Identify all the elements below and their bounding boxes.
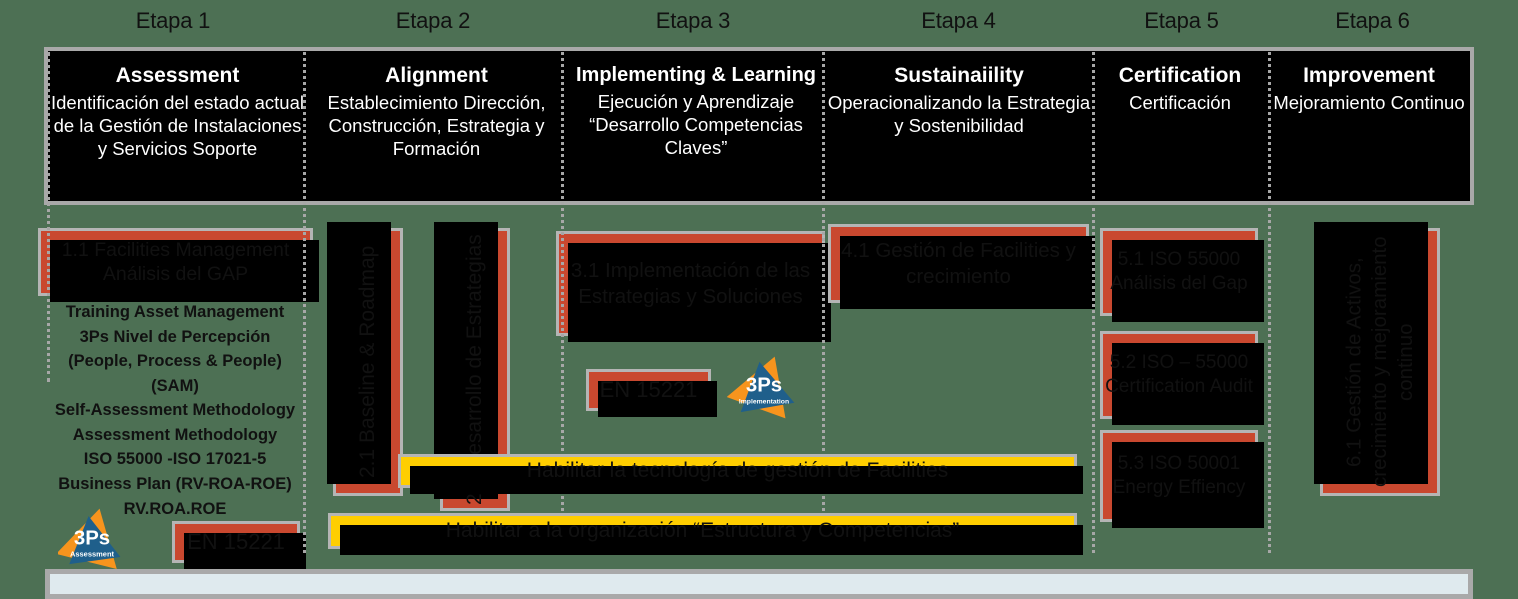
list-item: Training Asset Management: [46, 300, 304, 325]
badge-en-15221-column3[interactable]: EN 15221: [586, 369, 711, 411]
stage-header-subtitle: Ejecución y Aprendizaje “Desarrollo Comp…: [566, 91, 826, 160]
svg-text:Implementation: Implementation: [739, 399, 789, 406]
stage-header-title: Certification: [1092, 64, 1268, 87]
enabler-bar-technology[interactable]: Habilitar la tecnología de gestión de Fa…: [398, 454, 1077, 488]
stage-header-title: Sustainaiility: [826, 64, 1092, 87]
stage-header-subtitle: Mejoramiento Continuo: [1268, 92, 1470, 115]
list-item: (People, Process & People): [46, 349, 304, 374]
stage-header-subtitle: Operacionalizando la Estrategia y Sosten…: [826, 92, 1092, 138]
stage-header-2: Alignment Establecimiento Dirección, Con…: [307, 51, 566, 201]
card-2-1-baseline-roadmap[interactable]: 2.1 Baseline & Roadmap: [333, 228, 403, 496]
card-5-3-iso-50001[interactable]: 5.3 ISO 50001 Energy Effiency: [1100, 430, 1258, 522]
logo-3ps-assessment-graphic: 3Ps Assessment: [58, 505, 126, 573]
stage-caption-1: Etapa 1: [44, 8, 302, 34]
column-separator-left-edge: [47, 52, 50, 382]
stage-caption-3: Etapa 3: [564, 8, 822, 34]
stage-caption-5: Etapa 5: [1095, 8, 1268, 34]
column-separator-1-2: [303, 52, 306, 553]
stage-header-4: Sustainaiility Operacionalizando la Estr…: [826, 51, 1092, 201]
stage-header-6: Improvement Mejoramiento Continuo: [1268, 51, 1470, 201]
card-5-2-iso-55000-audit[interactable]: 5.2 ISO – 55000 Certification Audit: [1100, 331, 1258, 419]
stage-header-subtitle: Certificación: [1092, 92, 1268, 115]
enabler-bar-organization[interactable]: Habilitar a la organización “Estructura …: [328, 513, 1077, 549]
stage-header-title: Assessment: [48, 64, 307, 87]
stage-header-1: Assessment Identificación del estado act…: [48, 51, 307, 201]
stage-header-title: Alignment: [307, 64, 566, 87]
svg-text:3Ps: 3Ps: [746, 374, 782, 396]
card-6-1-gestion-activos[interactable]: 6.1 Gestión de Activos, crecimiento y me…: [1320, 228, 1440, 496]
stage-header-5: Certification Certificación: [1092, 51, 1268, 201]
column-separator-5-6: [1268, 52, 1271, 553]
stage-header-subtitle: Establecimiento Dirección, Construcción,…: [307, 92, 566, 161]
card-1-1-facilities-management[interactable]: 1.1 Facilities Management Análisis del G…: [38, 228, 313, 296]
list-item: (SAM): [46, 374, 304, 399]
badge-en-15221-column1[interactable]: EN 15221: [172, 521, 300, 563]
bottom-timeline-bar: [45, 569, 1473, 599]
column1-detail-list: Training Asset Management 3Ps Nivel de P…: [46, 300, 304, 521]
card-3-1-implementacion-estrategias[interactable]: 3.1 Implementación de las Estrategias y …: [556, 231, 825, 336]
stage-header-band: Assessment Identificación del estado act…: [44, 47, 1474, 205]
logo-3ps-implementation: 3Ps Implementation: [727, 352, 801, 420]
stage-header-3: Implementing & Learning Ejecución y Apre…: [566, 51, 826, 201]
list-item: Business Plan (RV-ROA-ROE): [46, 472, 304, 497]
card-5-1-iso-55000[interactable]: 5.1 ISO 55000 Análisis del Gap: [1100, 228, 1258, 316]
stage-header-subtitle: Identificación del estado actual de la G…: [48, 92, 307, 161]
diagram-canvas: Etapa 1 Etapa 2 Etapa 3 Etapa 4 Etapa 5 …: [0, 0, 1518, 599]
column-separator-4-5: [1092, 52, 1095, 553]
svg-text:Assessment: Assessment: [70, 550, 115, 559]
list-item: ISO 55000 -ISO 17021-5: [46, 447, 304, 472]
list-item: Assessment Methodology: [46, 423, 304, 448]
list-item: Self-Assessment Methodology: [46, 398, 304, 423]
svg-text:3Ps: 3Ps: [74, 527, 110, 549]
list-item: 3Ps Nivel de Percepción: [46, 325, 304, 350]
stage-caption-6: Etapa 6: [1271, 8, 1474, 34]
stage-caption-4: Etapa 4: [825, 8, 1092, 34]
stage-header-title: Implementing & Learning: [566, 64, 826, 86]
stage-header-title: Improvement: [1268, 64, 1470, 87]
card-4-1-gestion-facilities[interactable]: 4.1 Gestión de Facilities y crecimiento: [828, 224, 1089, 303]
logo-3ps-assessment: 3Ps Assessment: [58, 505, 126, 573]
stage-caption-2: Etapa 2: [305, 8, 561, 34]
logo-3ps-implementation-graphic: 3Ps Implementation: [727, 352, 801, 420]
